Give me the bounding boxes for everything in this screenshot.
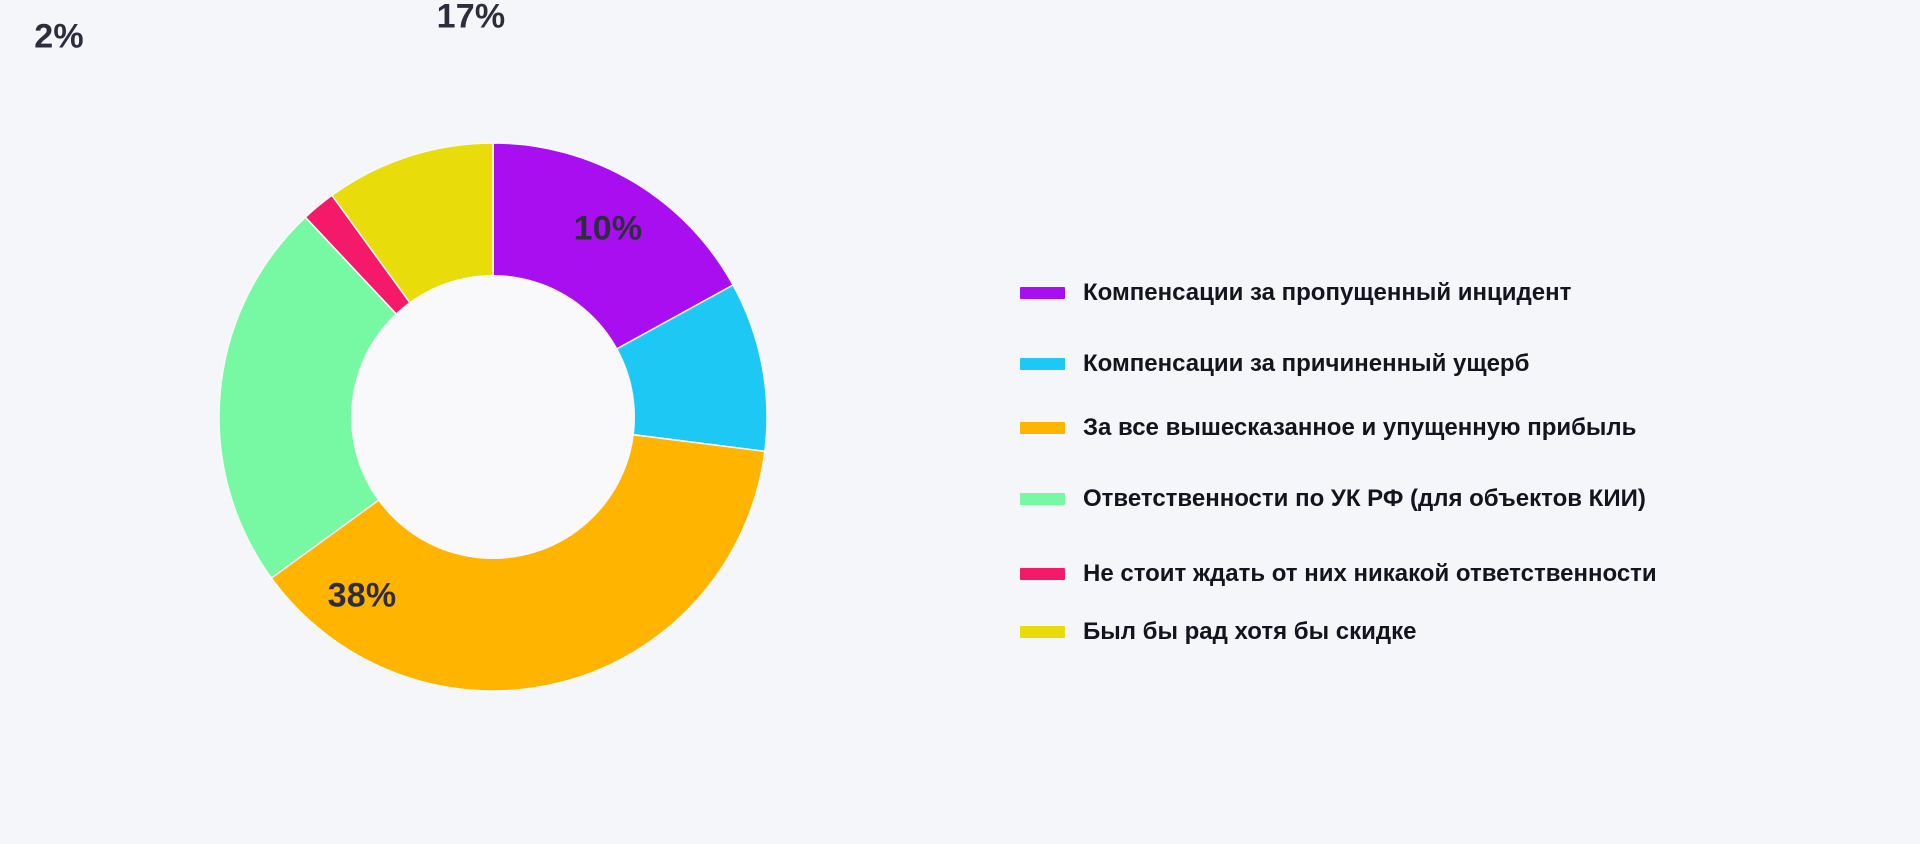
slice-label-4: 2% (34, 18, 84, 57)
legend-color-swatch-icon-1 (1020, 358, 1065, 370)
legend-label-4: Не стоит ждать от них никакой ответствен… (1083, 562, 1657, 586)
legend-color-swatch-icon-3 (1020, 493, 1065, 505)
slice-label-2: 38% (328, 577, 397, 616)
legend-color-swatch-icon-0 (1020, 287, 1065, 299)
slice-label-0: 17% (437, 0, 506, 37)
legend-label-2: За все вышесказанное и упущенную прибыль (1083, 416, 1636, 440)
legend-item-1[interactable]: Компенсации за причиненный ущерб (1020, 352, 1720, 376)
legend-label-1: Компенсации за причиненный ущерб (1083, 352, 1529, 376)
slice-label-5: 10% (122, 0, 191, 4)
legend-color-swatch-icon-4 (1020, 568, 1065, 580)
legend-color-swatch-icon-5 (1020, 626, 1065, 638)
legend-color-swatch-icon-2 (1020, 422, 1065, 434)
donut-hole (351, 275, 635, 559)
legend-label-0: Компенсации за пропущенный инцидент (1083, 281, 1571, 305)
legend-label-3: Ответственности по УК РФ (для объектов К… (1083, 487, 1646, 511)
donut-chart: 17% 10% 38% 23% 2% 10% (0, 0, 1000, 844)
legend-item-0[interactable]: Компенсации за пропущенный инцидент (1020, 281, 1720, 305)
legend-item-2[interactable]: За все вышесказанное и упущенную прибыль (1020, 416, 1720, 440)
legend-item-5[interactable]: Был бы рад хотя бы скидке (1020, 620, 1720, 644)
chart-canvas: 17% 10% 38% 23% 2% 10% Компенсации за пр… (0, 0, 1920, 844)
legend-item-3[interactable]: Ответственности по УК РФ (для объектов К… (1020, 487, 1720, 511)
legend-label-5: Был бы рад хотя бы скидке (1083, 620, 1417, 644)
slice-label-1: 10% (574, 210, 643, 249)
donut-chart-svg (219, 143, 767, 691)
legend-item-4[interactable]: Не стоит ждать от них никакой ответствен… (1020, 562, 1720, 586)
chart-legend: Компенсации за пропущенный инцидент Комп… (1020, 272, 1720, 644)
